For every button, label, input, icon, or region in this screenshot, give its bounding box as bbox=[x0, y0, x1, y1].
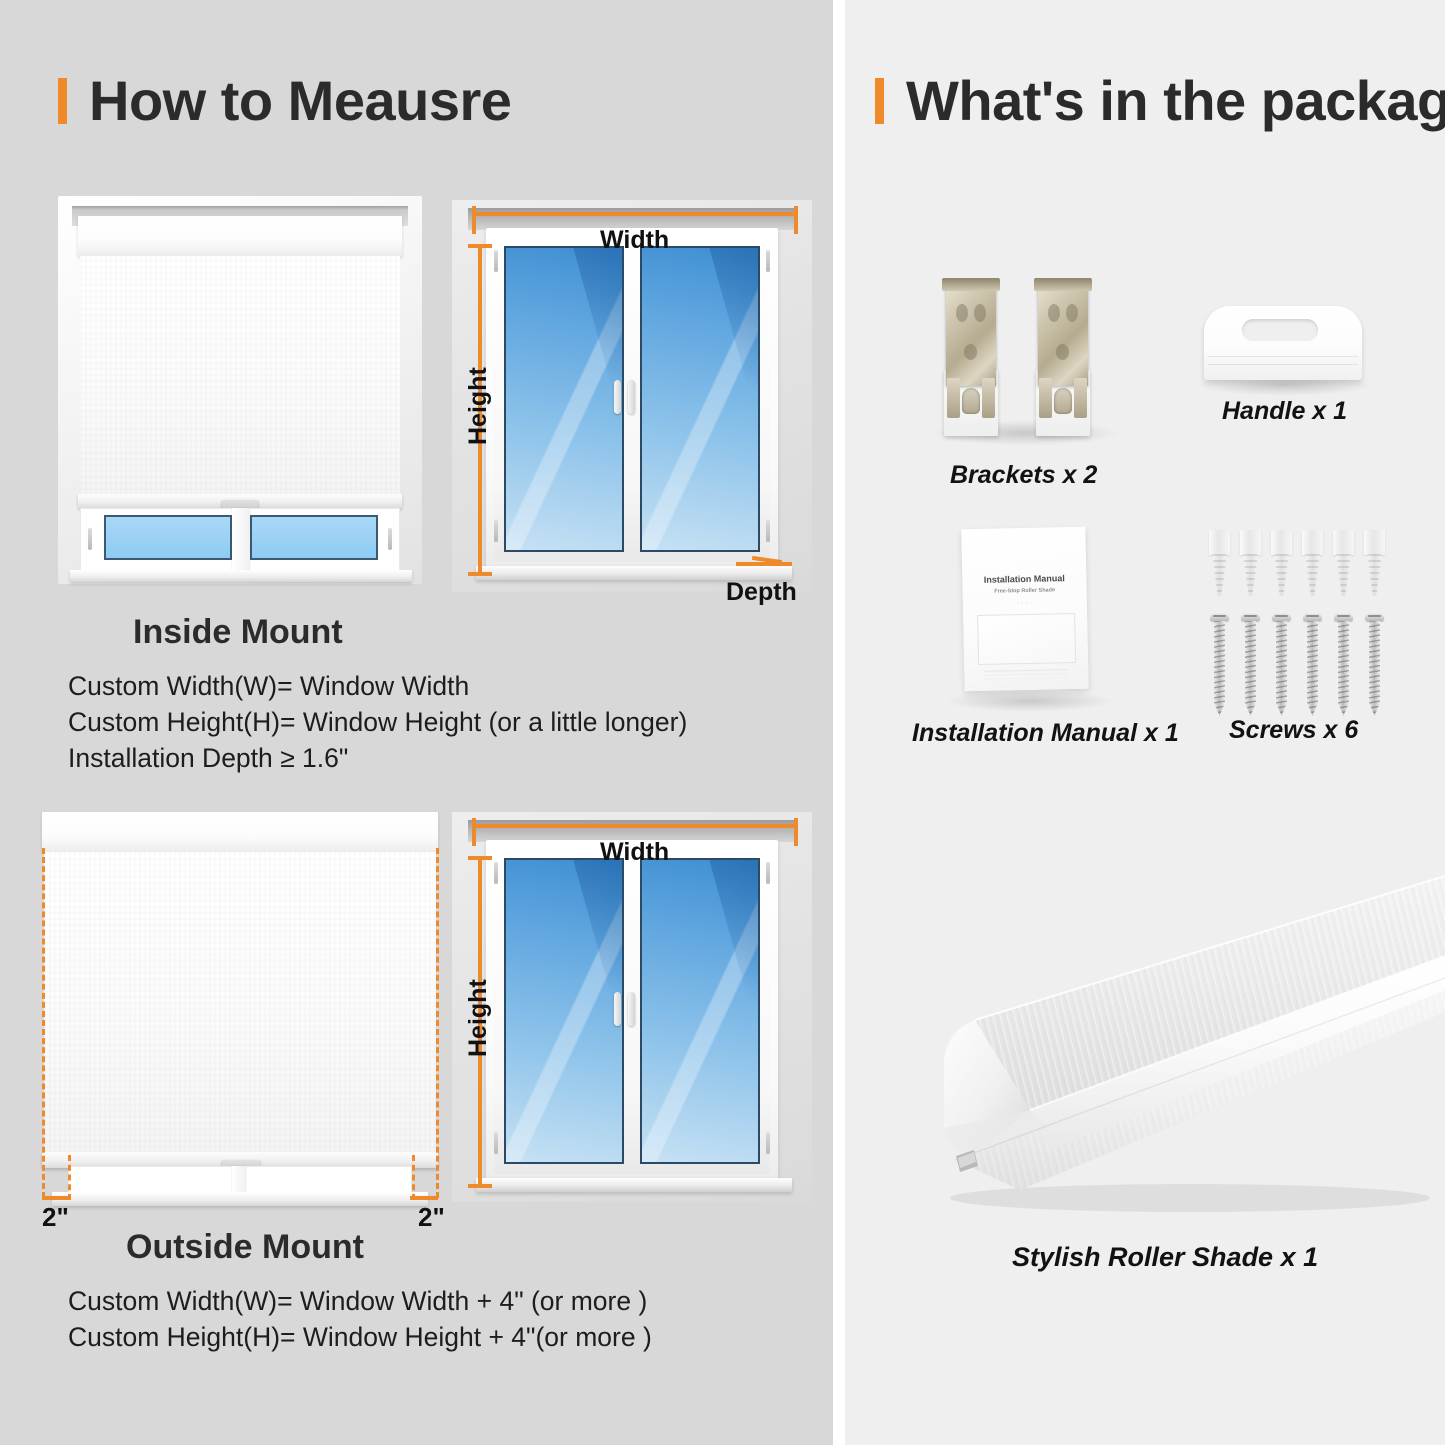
anchor-body bbox=[1274, 554, 1289, 596]
inside-mount-spec-height: Custom Height(H)= Window Height (or a li… bbox=[68, 707, 687, 738]
roller-shade-icon bbox=[900, 860, 1445, 1220]
bracket-metal-body bbox=[1038, 282, 1088, 386]
bracket-keyhole bbox=[1054, 388, 1072, 414]
screw-icon bbox=[1303, 612, 1322, 716]
height-dimension-tick-top bbox=[468, 244, 492, 248]
window-sill bbox=[70, 570, 412, 582]
roller-shade-svg bbox=[900, 860, 1445, 1220]
screw-icon bbox=[1365, 612, 1384, 716]
bracket-tab-right bbox=[1074, 378, 1087, 418]
height-dimension-tick-bottom bbox=[468, 572, 492, 576]
window-center-sash bbox=[232, 508, 250, 570]
wall-anchor-icon bbox=[1209, 530, 1230, 596]
screw-slot bbox=[1337, 615, 1350, 617]
overhang-label-right: 2" bbox=[418, 1202, 445, 1233]
window-hinge-bottom-left-icon bbox=[494, 520, 498, 542]
window-edge-guide-right bbox=[412, 1155, 415, 1200]
handle-ridge bbox=[1208, 356, 1358, 357]
manual-cover-diagram bbox=[977, 613, 1076, 665]
screw-slot bbox=[1368, 615, 1381, 617]
window-sill bbox=[52, 1192, 428, 1206]
window-glass-left bbox=[104, 515, 232, 560]
handle-label: Handle x 1 bbox=[1222, 397, 1347, 426]
window-hinge-top-right-icon bbox=[766, 250, 770, 272]
anchor-head bbox=[1271, 530, 1292, 555]
width-dimension-label: Width bbox=[600, 838, 669, 867]
window-hinge-top-left-icon bbox=[494, 250, 498, 272]
width-dimension-tick-left bbox=[472, 818, 476, 846]
wall-anchor-icon bbox=[1271, 530, 1292, 596]
screw-slot bbox=[1306, 615, 1319, 617]
overhang-dimension-line-left bbox=[42, 1196, 70, 1200]
panel-divider bbox=[833, 0, 845, 1445]
anchor-head bbox=[1302, 530, 1323, 555]
bracket-hole bbox=[1056, 344, 1069, 360]
wall-anchor-icon bbox=[1364, 530, 1385, 596]
screw-icon bbox=[1334, 612, 1353, 716]
window-sill bbox=[476, 1178, 792, 1192]
bracket-tab-left bbox=[1039, 378, 1052, 418]
wall-anchor-icon bbox=[1333, 530, 1354, 596]
anchor-head bbox=[1209, 530, 1230, 555]
outside-mount-spec-width: Custom Width(W)= Window Width + 4" (or m… bbox=[68, 1286, 647, 1317]
bracket-icon bbox=[1032, 278, 1094, 436]
screw-slot bbox=[1275, 615, 1288, 617]
anchor-body bbox=[1367, 554, 1382, 596]
window-hinge-bottom-right-icon bbox=[766, 1132, 770, 1154]
window-glass-pane-right bbox=[640, 246, 760, 552]
outside-mount-title: Outside Mount bbox=[126, 1228, 364, 1267]
accent-bar-icon bbox=[58, 78, 67, 124]
screw-icon bbox=[1272, 612, 1291, 716]
wall-anchor-icon bbox=[1302, 530, 1323, 596]
screw-icon bbox=[1241, 612, 1260, 716]
anchor-head bbox=[1240, 530, 1261, 555]
window-hinge-bottom-left-icon bbox=[494, 1132, 498, 1154]
window-handle-left-icon bbox=[614, 992, 621, 1026]
screw-icon bbox=[1210, 612, 1229, 716]
width-dimension-line bbox=[472, 212, 798, 216]
window-glass-right bbox=[250, 515, 378, 560]
bracket-hole bbox=[964, 344, 977, 360]
manual-shadow bbox=[945, 690, 1115, 712]
height-dimension-label: Height bbox=[464, 367, 493, 445]
anchor-body bbox=[1212, 554, 1227, 596]
shade-valance bbox=[78, 216, 402, 256]
window-glass-pane-right bbox=[640, 858, 760, 1164]
page-title-measure: How to Meausre bbox=[89, 73, 511, 129]
screw-shaft bbox=[1245, 621, 1256, 716]
window-edge-guide-left bbox=[68, 1155, 71, 1200]
width-dimension-tick-right bbox=[794, 206, 798, 234]
bracket-hole bbox=[1066, 304, 1078, 322]
width-dimension-tick-right bbox=[794, 818, 798, 846]
overhang-guide-right bbox=[436, 848, 439, 1198]
width-dimension-tick-left bbox=[472, 206, 476, 234]
bracket-hole bbox=[974, 304, 986, 322]
screw-slot bbox=[1244, 615, 1257, 617]
screw-shaft bbox=[1369, 621, 1380, 716]
screw-shaft bbox=[1276, 621, 1287, 716]
whats-in-package-heading: What's in the package bbox=[875, 73, 1445, 129]
page-title-package: What's in the package bbox=[906, 73, 1445, 129]
manual-label: Installation Manual x 1 bbox=[912, 719, 1179, 748]
how-to-measure-heading: How to Meausre bbox=[58, 73, 511, 129]
screws-label: Screws x 6 bbox=[1229, 716, 1358, 745]
inside-mount-spec-depth: Installation Depth ≥ 1.6" bbox=[68, 743, 348, 774]
roller-shade-label: Stylish Roller Shade x 1 bbox=[1012, 1242, 1318, 1273]
screw-shaft bbox=[1214, 621, 1225, 716]
height-dimension-label: Height bbox=[464, 979, 493, 1057]
anchor-body bbox=[1305, 554, 1320, 596]
width-dimension-line bbox=[472, 824, 798, 828]
inside-mount-spec-width: Custom Width(W)= Window Width bbox=[68, 671, 469, 702]
bracket-top-lip bbox=[1034, 278, 1092, 291]
window-hinge-bottom-right-icon bbox=[766, 520, 770, 542]
overhang-label-left: 2" bbox=[42, 1202, 69, 1233]
window-handle-left-icon bbox=[614, 380, 621, 414]
window-glass-pane-left bbox=[504, 246, 624, 552]
window-handle-right-icon bbox=[628, 992, 635, 1026]
handle-ridge bbox=[1208, 364, 1358, 365]
bracket-tab-right bbox=[982, 378, 995, 418]
bracket-hole bbox=[1048, 304, 1060, 322]
window-hinge-top-left-icon bbox=[494, 862, 498, 884]
shade-fabric bbox=[80, 256, 400, 496]
anchor-head bbox=[1333, 530, 1354, 555]
manual-cover-title: Installation Manual bbox=[962, 573, 1086, 586]
bracket-hole bbox=[956, 304, 968, 322]
window-glass-pane-left bbox=[504, 858, 624, 1164]
bracket-metal-body bbox=[946, 282, 996, 386]
screw-shaft bbox=[1307, 621, 1318, 716]
bracket-icon bbox=[940, 278, 1002, 436]
height-dimension-tick-top bbox=[468, 856, 492, 860]
screw-shaft bbox=[1338, 621, 1349, 716]
depth-dimension-line bbox=[736, 562, 792, 566]
width-dimension-label: Width bbox=[600, 226, 669, 255]
outside-mount-spec-height: Custom Height(H)= Window Height + 4"(or … bbox=[68, 1322, 652, 1353]
window-hinge-right-icon bbox=[388, 528, 392, 550]
inside-mount-title: Inside Mount bbox=[133, 613, 343, 652]
handle-grip-slot bbox=[1242, 319, 1318, 341]
wall-anchor-icon bbox=[1240, 530, 1261, 596]
shade-fabric bbox=[44, 852, 436, 1154]
manual-icon: Installation Manual Free-Stop Roller Sha… bbox=[961, 527, 1088, 692]
handle-icon bbox=[1204, 306, 1362, 380]
manual-cover-subtitle: Free-Stop Roller Shade bbox=[963, 587, 1087, 596]
shade-valance bbox=[42, 812, 438, 852]
bracket-tab-left bbox=[947, 378, 960, 418]
anchor-body bbox=[1336, 554, 1351, 596]
manual-cover-footer-lines bbox=[984, 669, 1068, 672]
brackets-label: Brackets x 2 bbox=[950, 461, 1097, 490]
overhang-dimension-line-right bbox=[410, 1196, 438, 1200]
screw-slot bbox=[1213, 615, 1226, 617]
bracket-keyhole bbox=[962, 388, 980, 414]
window-hinge-left-icon bbox=[88, 528, 92, 550]
infographic-page: How to Meausre What's in the package bbox=[0, 0, 1445, 1445]
depth-dimension-label: Depth bbox=[726, 578, 797, 607]
manual-cover-marks: - - - - bbox=[963, 599, 1087, 607]
anchor-head bbox=[1364, 530, 1385, 555]
height-dimension-tick-bottom bbox=[468, 1184, 492, 1188]
anchor-body bbox=[1243, 554, 1258, 596]
overhang-guide-left bbox=[42, 848, 45, 1198]
accent-bar-icon bbox=[875, 78, 884, 124]
window-hinge-top-right-icon bbox=[766, 862, 770, 884]
window-handle-right-icon bbox=[628, 380, 635, 414]
bracket-top-lip bbox=[942, 278, 1000, 291]
